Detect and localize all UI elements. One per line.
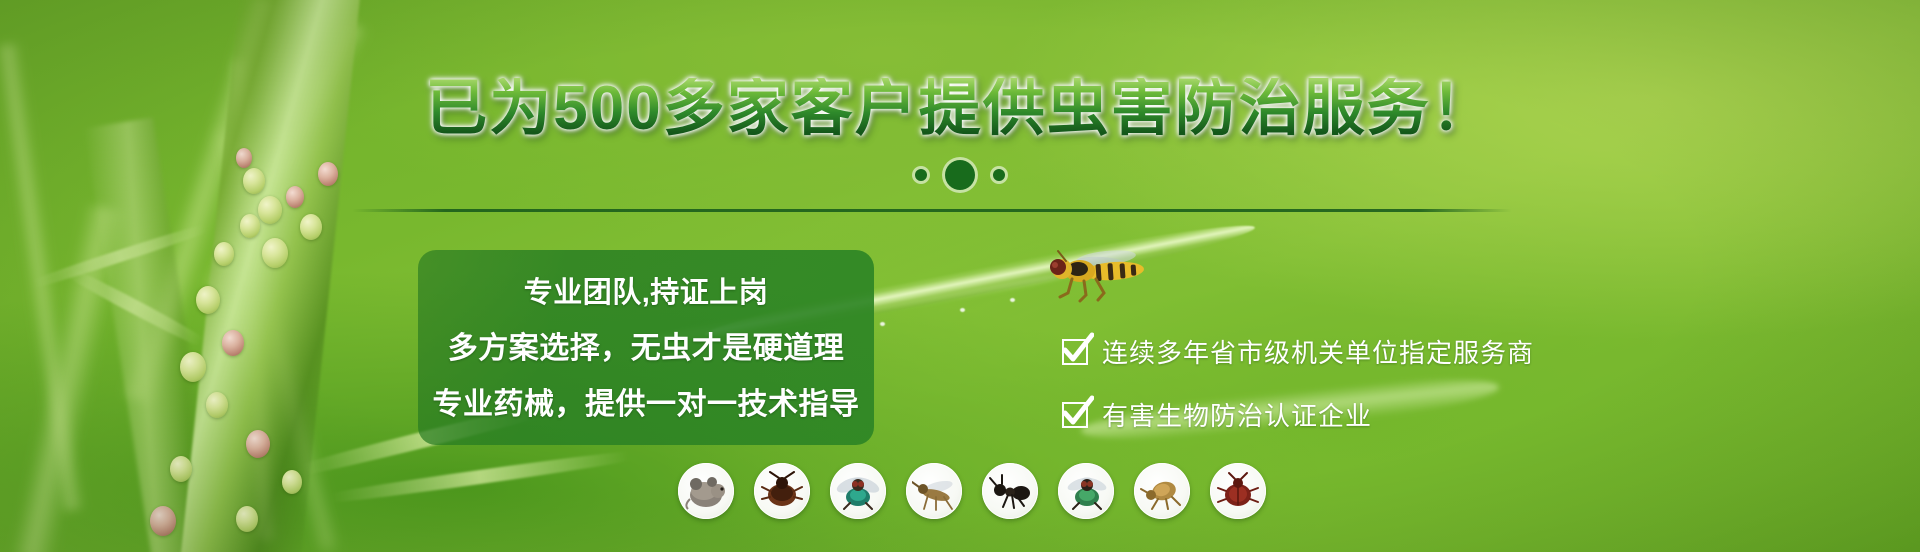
dot-small-left bbox=[915, 169, 927, 181]
blowfly-icon[interactable] bbox=[830, 463, 886, 519]
divider bbox=[352, 209, 1512, 212]
credential-label: 有害生物防治认证企业 bbox=[1102, 396, 1372, 433]
bedbug-icon[interactable] bbox=[1210, 463, 1266, 519]
hoverfly-icon bbox=[1044, 245, 1162, 305]
checkbox-checked-icon bbox=[1062, 339, 1088, 365]
list-item: 有害生物防治认证企业 bbox=[1062, 396, 1534, 433]
slogan-line-3: 专业药械，提供一对一技术指导 bbox=[433, 379, 860, 423]
credential-list: 连续多年省市级机关单位指定服务商 有害生物防治认证企业 bbox=[1062, 333, 1534, 433]
mosquito-icon[interactable] bbox=[906, 463, 962, 519]
dot-large-center bbox=[945, 160, 975, 190]
page-title: 已为500多家客户提供虫害防治服务！ bbox=[0, 78, 1920, 140]
slogan-line-2: 多方案选择，无虫才是硬道理 bbox=[448, 323, 845, 367]
mouse-icon[interactable] bbox=[678, 463, 734, 519]
pest-icon-row bbox=[678, 463, 1266, 519]
slogan-line-1: 专业团队,持证上岗 bbox=[524, 269, 769, 311]
credential-label: 连续多年省市级机关单位指定服务商 bbox=[1102, 333, 1534, 370]
list-item: 连续多年省市级机关单位指定服务商 bbox=[1062, 333, 1534, 370]
dot-small-right bbox=[993, 169, 1005, 181]
flea-icon[interactable] bbox=[1134, 463, 1190, 519]
checkbox-checked-icon bbox=[1062, 402, 1088, 428]
slogan-panel: 专业团队,持证上岗 多方案选择，无虫才是硬道理 专业药械，提供一对一技术指导 bbox=[418, 250, 874, 445]
promo-banner: 已为500多家客户提供虫害防治服务！ 已为500多家客户提供虫害防治服务！ 专业… bbox=[0, 0, 1920, 552]
cockroach-icon[interactable] bbox=[754, 463, 810, 519]
decorative-dots bbox=[0, 160, 1920, 190]
ant-icon[interactable] bbox=[982, 463, 1038, 519]
housefly-icon[interactable] bbox=[1058, 463, 1114, 519]
